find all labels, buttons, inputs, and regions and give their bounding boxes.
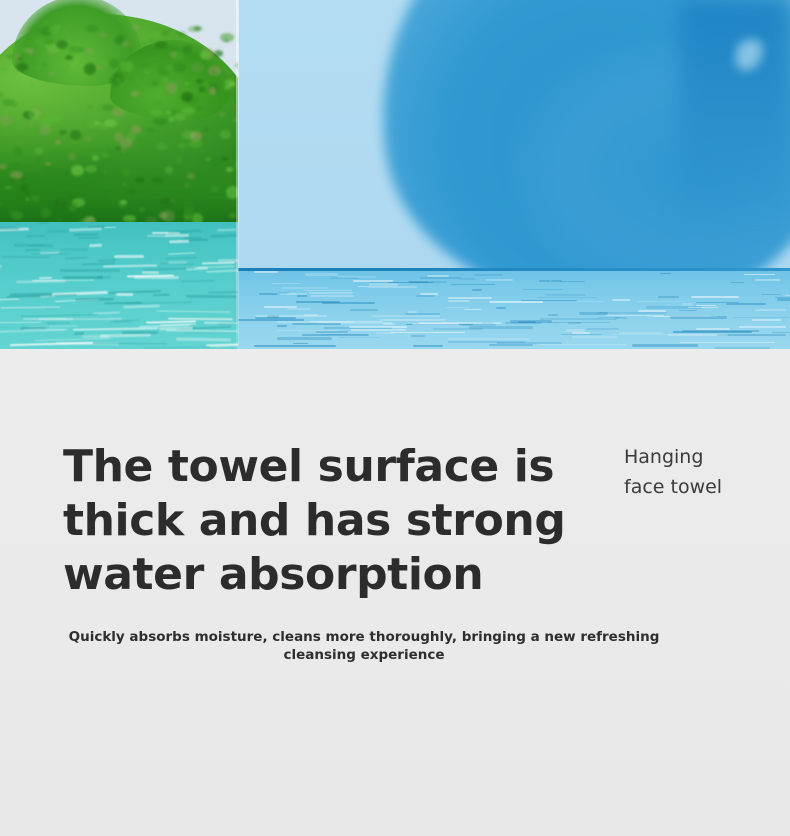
foliage-texture <box>119 83 124 86</box>
water-ripple <box>391 332 465 333</box>
foliage-texture <box>59 130 67 135</box>
water-ripple <box>349 326 407 328</box>
water-ripple <box>680 342 775 343</box>
foliage-texture <box>123 183 127 186</box>
water-ripple <box>168 317 233 320</box>
foliage-texture <box>210 157 223 168</box>
water-ripple <box>731 282 744 283</box>
water-ripple <box>673 331 752 333</box>
water-ripple <box>464 309 482 310</box>
foliage-texture <box>76 215 79 218</box>
foliage-texture <box>110 195 120 201</box>
water-ripple <box>383 323 395 325</box>
water-ripple <box>448 338 530 340</box>
foliage-texture <box>72 203 78 207</box>
foliage-texture <box>14 163 19 166</box>
foliage-texture <box>42 62 47 67</box>
foliage-texture <box>163 77 168 82</box>
foliage-texture <box>201 162 206 165</box>
foliage-texture <box>45 162 51 166</box>
water-ripple <box>281 287 328 289</box>
right-water-surface <box>238 271 790 349</box>
water-ripple <box>46 322 70 324</box>
green-island <box>0 14 238 236</box>
foliage-texture <box>171 109 178 115</box>
water-ripple <box>448 300 470 302</box>
water-ripple <box>202 262 235 265</box>
foliage-texture <box>170 51 177 58</box>
foliage-texture <box>112 108 124 117</box>
foliage-texture <box>105 119 118 127</box>
foliage-texture <box>177 192 188 198</box>
water-ripple <box>472 289 482 291</box>
water-ripple <box>682 303 693 306</box>
subtitle-line-1: Quickly absorbs moisture, cleans more th… <box>63 628 665 646</box>
foliage-texture <box>135 79 141 82</box>
headline-line-3: water absorption <box>63 548 623 602</box>
water-ripple <box>420 277 461 279</box>
water-ripple <box>31 253 71 255</box>
product-banner-page: The towel surface is thick and has stron… <box>0 0 790 836</box>
water-ripple <box>65 256 88 259</box>
water-ripple <box>287 293 296 295</box>
water-ripple <box>572 336 617 338</box>
water-ripple <box>181 280 215 283</box>
water-ripple <box>460 278 475 280</box>
water-ripple <box>556 322 611 323</box>
foliage-texture <box>25 191 31 195</box>
water-ripple <box>305 273 338 276</box>
page-title: The towel surface is thick and has stron… <box>63 440 623 602</box>
water-ripple <box>297 295 307 297</box>
water-ripple <box>537 297 597 298</box>
foliage-texture <box>140 42 146 47</box>
water-ripple <box>416 295 435 297</box>
water-ripple <box>548 314 558 316</box>
foliage-texture <box>128 189 137 194</box>
foliage-texture <box>182 130 195 140</box>
water-ripple <box>116 293 133 296</box>
water-ripple <box>114 255 144 258</box>
water-ripple <box>74 233 98 237</box>
foliage-texture <box>124 212 127 214</box>
foliage-texture <box>84 136 92 143</box>
foliage-texture <box>74 187 77 189</box>
water-ripple <box>691 296 740 298</box>
foliage-texture <box>10 178 15 183</box>
panel-divider <box>236 0 239 349</box>
foliage-texture <box>0 180 4 182</box>
foliage-texture <box>219 112 224 117</box>
water-ripple <box>405 313 439 315</box>
water-ripple <box>97 276 111 279</box>
water-ripple <box>714 347 770 349</box>
foliage-texture <box>1 67 8 71</box>
water-ripple <box>339 337 380 338</box>
water-ripple <box>309 292 353 294</box>
water-ripple <box>372 315 441 317</box>
water-ripple <box>277 325 287 327</box>
water-ripple <box>489 344 533 346</box>
foliage-texture <box>5 186 11 190</box>
water-ripple <box>186 295 237 299</box>
headline-line-2: thick and has strong <box>63 494 623 548</box>
foliage-texture <box>48 26 60 34</box>
foliage-texture <box>167 130 171 133</box>
foliage-texture <box>0 164 7 169</box>
water-ripple <box>420 293 438 295</box>
water-ripple <box>165 256 197 259</box>
foliage-texture <box>226 167 234 172</box>
water-ripple <box>448 341 525 343</box>
foliage-texture <box>9 208 17 216</box>
foliage-texture <box>132 25 139 30</box>
water-ripple <box>752 319 780 321</box>
water-ripple <box>350 309 378 311</box>
foliage-texture <box>169 117 174 121</box>
water-ripple <box>153 294 170 296</box>
foliage-texture <box>166 82 177 93</box>
foliage-texture <box>96 65 102 69</box>
water-ripple <box>74 332 85 335</box>
foliage-texture <box>68 46 81 53</box>
water-ripple <box>0 265 3 268</box>
water-ripple <box>761 294 781 295</box>
foliage-texture <box>229 82 236 86</box>
foliage-texture <box>161 30 169 36</box>
foliage-texture <box>13 147 23 155</box>
foliage-texture <box>77 85 82 87</box>
water-ripple <box>755 309 786 311</box>
water-ripple <box>772 332 790 333</box>
water-ripple <box>316 331 347 333</box>
water-ripple <box>489 301 543 303</box>
foliage-texture <box>224 39 228 42</box>
foliage-texture <box>121 168 130 177</box>
water-ripple <box>21 314 98 317</box>
water-ripple <box>69 227 102 231</box>
water-ripple <box>474 274 503 276</box>
foliage-texture <box>211 186 218 191</box>
water-ripple <box>598 317 620 318</box>
water-ripple <box>566 329 585 332</box>
water-ripple <box>206 269 238 273</box>
foliage-texture <box>120 146 127 153</box>
water-ripple <box>168 261 187 264</box>
water-ripple <box>25 249 40 251</box>
hero-left-photo-panel <box>0 0 238 349</box>
foliage-texture <box>181 92 193 102</box>
water-ripple <box>75 298 114 302</box>
foliage-texture <box>120 200 126 203</box>
water-ripple <box>576 301 605 302</box>
water-ripple <box>351 329 406 331</box>
water-ripple <box>60 269 120 272</box>
foliage-texture <box>28 109 40 120</box>
water-ripple <box>612 299 631 301</box>
water-ripple <box>46 308 58 310</box>
foliage-texture <box>175 156 183 163</box>
foliage-texture <box>49 72 54 75</box>
foliage-texture <box>128 77 134 80</box>
foliage-texture <box>64 29 67 32</box>
foliage-texture <box>97 128 100 130</box>
water-ripple <box>560 281 584 282</box>
water-ripple <box>337 276 377 278</box>
water-ripple <box>10 292 52 296</box>
foliage-texture <box>30 84 35 87</box>
water-ripple <box>208 290 238 293</box>
foliage-texture <box>56 40 68 49</box>
water-ripple <box>103 265 157 268</box>
water-ripple <box>1 255 50 258</box>
water-ripple <box>353 280 394 282</box>
foliage-texture <box>26 48 35 53</box>
foliage-texture <box>150 110 162 116</box>
foliage-texture <box>104 149 114 156</box>
foliage-texture <box>142 65 152 74</box>
water-ripple <box>785 295 790 296</box>
foliage-texture <box>211 70 217 75</box>
foliage-texture <box>131 91 139 96</box>
page-subtitle: Quickly absorbs moisture, cleans more th… <box>63 628 665 664</box>
water-ripple <box>679 310 697 311</box>
water-ripple <box>156 310 230 312</box>
water-ripple <box>451 284 495 285</box>
water-ripple <box>39 277 52 279</box>
water-ripple <box>540 318 617 320</box>
tagline-line-1: Hanging <box>624 442 774 472</box>
hero-image <box>0 0 790 349</box>
foliage-texture <box>146 128 155 133</box>
water-ripple <box>254 271 278 273</box>
foliage-texture <box>15 54 21 59</box>
water-ripple <box>27 235 45 237</box>
water-ripple <box>210 233 238 238</box>
water-ripple <box>419 322 502 324</box>
foliage-texture <box>203 128 209 132</box>
water-ripple <box>632 344 698 347</box>
water-ripple <box>142 271 159 274</box>
foliage-texture <box>19 136 23 138</box>
foliage-texture <box>2 99 9 106</box>
water-ripple <box>176 337 231 341</box>
water-ripple <box>123 304 160 308</box>
water-ripple <box>254 345 335 347</box>
water-ripple <box>539 280 551 282</box>
water-ripple <box>587 328 618 330</box>
water-ripple <box>619 332 660 334</box>
foliage-texture <box>92 155 99 161</box>
foliage-texture <box>170 200 174 202</box>
foliage-texture <box>34 38 47 45</box>
foliage-texture <box>220 130 231 139</box>
water-ripple <box>485 279 513 281</box>
water-ripple <box>38 317 122 319</box>
tagline-line-2: face towel <box>624 472 774 502</box>
water-ripple <box>322 302 375 304</box>
foliage-texture <box>229 213 235 218</box>
foliage-texture <box>36 68 40 71</box>
foliage-texture <box>151 186 155 190</box>
water-ripple <box>505 322 542 324</box>
foliage-texture <box>165 166 173 174</box>
foliage-texture <box>31 195 40 202</box>
water-ripple <box>658 296 679 298</box>
water-ripple <box>256 315 327 317</box>
foliage-texture <box>90 126 94 128</box>
water-ripple <box>660 273 671 274</box>
product-tagline: Hanging face towel <box>624 442 774 502</box>
foliage-texture <box>68 153 76 159</box>
foliage-texture <box>40 125 51 135</box>
water-ripple <box>93 342 167 344</box>
water-ripple <box>47 229 68 232</box>
foliage-texture <box>70 130 81 140</box>
foliage-texture <box>7 54 14 58</box>
water-ripple <box>169 240 189 244</box>
water-ripple <box>217 229 236 232</box>
foliage-texture <box>178 143 187 148</box>
foliage-texture <box>57 218 61 221</box>
foliage-texture <box>202 178 210 182</box>
water-ripple <box>777 298 790 301</box>
foliage-texture <box>156 143 168 151</box>
foliage-texture <box>26 198 29 200</box>
water-ripple <box>310 295 354 297</box>
water-ripple <box>104 227 116 228</box>
foliage-texture <box>151 177 165 184</box>
water-ripple <box>496 307 505 309</box>
foliage-texture <box>126 133 135 142</box>
water-ripple <box>277 337 333 340</box>
water-ripple <box>551 280 562 282</box>
water-ripple <box>147 235 166 237</box>
foliage-texture <box>0 115 12 127</box>
foliage-texture <box>185 82 189 84</box>
water-ripple <box>36 222 50 224</box>
water-ripple <box>744 274 775 275</box>
foliage-texture <box>155 41 167 47</box>
foliage-texture <box>153 118 166 125</box>
water-ripple <box>539 344 626 345</box>
water-ripple <box>408 281 447 283</box>
foliage-texture <box>0 172 7 179</box>
water-ripple <box>726 303 766 305</box>
water-ripple <box>255 317 296 319</box>
foliage-texture <box>51 115 61 122</box>
foliage-texture <box>177 31 186 36</box>
water-ripple <box>646 316 716 317</box>
water-ripple <box>597 312 667 314</box>
foliage-texture <box>29 122 33 125</box>
foliage-texture <box>188 140 202 148</box>
foliage-texture <box>120 61 134 73</box>
water-ripple <box>320 334 361 335</box>
water-ripple <box>755 279 780 281</box>
foliage-texture <box>214 50 223 56</box>
foliage-texture <box>71 165 84 176</box>
water-ripple <box>413 345 443 347</box>
water-ripple <box>287 308 311 310</box>
foliage-texture <box>199 83 210 90</box>
water-ripple <box>637 301 683 302</box>
foliage-texture <box>85 25 98 31</box>
water-ripple <box>168 252 195 254</box>
water-ripple <box>259 293 278 295</box>
foliage-texture <box>55 140 62 145</box>
water-ripple <box>113 320 132 323</box>
water-ripple <box>184 237 202 239</box>
foliage-texture <box>22 177 25 180</box>
water-ripple <box>367 286 416 288</box>
water-ripple <box>433 328 483 330</box>
foliage-texture <box>102 61 107 66</box>
left-water-surface <box>0 222 238 349</box>
foliage-texture <box>135 177 145 183</box>
foliage-texture <box>37 105 41 107</box>
foliage-texture <box>84 63 96 74</box>
foliage-texture <box>131 125 141 134</box>
foliage-texture <box>139 207 145 212</box>
foliage-texture <box>85 165 97 173</box>
water-ripple <box>739 326 785 328</box>
water-ripple <box>166 329 238 332</box>
water-ripple <box>144 347 215 349</box>
water-ripple <box>523 289 561 290</box>
headline-line-1: The towel surface is <box>63 440 623 494</box>
foliage-texture <box>84 81 87 84</box>
water-ripple <box>358 286 367 287</box>
water-ripple <box>60 248 88 251</box>
water-ripple <box>78 237 99 240</box>
water-ripple <box>0 227 19 230</box>
foliage-texture <box>185 184 190 187</box>
foliage-texture <box>187 173 195 179</box>
foliage-texture <box>131 141 143 150</box>
water-ripple <box>546 294 586 296</box>
foliage-texture <box>65 55 74 60</box>
subtitle-line-2: cleansing experience <box>63 646 665 664</box>
water-ripple <box>521 300 577 301</box>
water-ripple <box>448 297 491 299</box>
foliage-texture <box>13 188 17 191</box>
foliage-texture <box>41 208 51 218</box>
foliage-texture <box>88 105 94 108</box>
water-ripple <box>272 283 300 284</box>
foliage-texture <box>148 39 153 43</box>
foliage-texture <box>200 51 208 59</box>
water-ripple <box>427 275 449 277</box>
water-ripple <box>462 324 497 326</box>
foliage-texture <box>103 171 107 173</box>
foliage-texture <box>54 199 67 211</box>
foliage-texture <box>109 59 118 68</box>
foliage-texture <box>0 202 1 206</box>
water-ripple <box>0 329 65 333</box>
foliage-texture <box>16 63 28 71</box>
water-ripple <box>293 343 308 344</box>
water-ripple <box>0 299 20 301</box>
water-ripple <box>304 290 352 291</box>
blue-edge-gradient <box>680 0 790 230</box>
foliage-texture <box>35 147 44 154</box>
water-ripple <box>89 244 102 247</box>
water-ripple <box>0 322 41 323</box>
water-ripple <box>561 334 602 335</box>
foliage-texture <box>37 157 41 161</box>
water-ripple <box>411 335 425 337</box>
